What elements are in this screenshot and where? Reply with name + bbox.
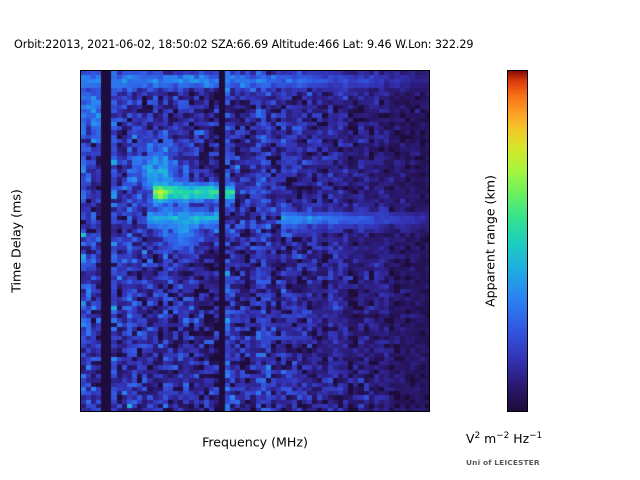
x-axis-tick — [324, 411, 325, 412]
x-axis-minor-tick — [312, 411, 313, 412]
y-axis-minor-tick — [80, 220, 81, 221]
x-axis-minor-tick — [107, 411, 108, 412]
figure-canvas: Orbit:22013, 2021-06-02, 18:50:02 SZA:66… — [0, 0, 640, 480]
x-axis-minor-tick — [237, 411, 238, 412]
y-axis-minor-tick — [80, 169, 81, 170]
y-axis-minor-tick — [80, 197, 81, 198]
y-axis-label: Time Delay (ms) — [9, 189, 24, 293]
y-axis-minor-tick — [80, 248, 81, 249]
secondary-y-axis-tick — [429, 130, 430, 131]
y-axis-minor-tick — [80, 346, 81, 347]
x-axis-minor-tick — [213, 411, 214, 412]
y-axis-minor-tick — [80, 131, 81, 132]
y-axis-minor-tick — [80, 80, 81, 81]
x-axis-minor-tick — [306, 411, 307, 412]
x-axis-tick — [386, 411, 387, 412]
x-axis-minor-tick — [275, 411, 276, 412]
x-axis-minor-tick — [424, 411, 425, 412]
y-axis-minor-tick — [80, 406, 81, 407]
colorbar-units-label: V2 m−2 Hz−1 — [466, 431, 542, 446]
y-axis-minor-tick — [80, 145, 81, 146]
y-axis-minor-tick — [80, 369, 81, 370]
x-axis-minor-tick — [82, 411, 83, 412]
y-axis-minor-tick — [80, 243, 81, 244]
y-axis-tick — [80, 257, 81, 258]
x-axis-minor-tick — [101, 411, 102, 412]
y-axis-minor-tick — [80, 122, 81, 123]
x-axis-minor-tick — [337, 411, 338, 412]
x-axis-minor-tick — [250, 411, 251, 412]
y-axis-minor-tick — [80, 215, 81, 216]
secondary-y-axis-tick — [429, 193, 430, 194]
y-axis-minor-tick — [80, 308, 81, 309]
y-axis-minor-tick — [80, 276, 81, 277]
y-axis-minor-tick — [80, 99, 81, 100]
x-axis-minor-tick — [144, 411, 145, 412]
x-axis-minor-tick — [219, 411, 220, 412]
y-axis-minor-tick — [80, 401, 81, 402]
x-axis-tick — [262, 411, 263, 412]
page-title: Orbit:22013, 2021-06-02, 18:50:02 SZA:66… — [14, 38, 473, 51]
x-axis-minor-tick — [194, 411, 195, 412]
x-axis-minor-tick — [231, 411, 232, 412]
x-axis-tick — [138, 411, 139, 412]
x-axis-minor-tick — [393, 411, 394, 412]
y-axis-tick — [80, 397, 81, 398]
y-axis-minor-tick — [80, 94, 81, 95]
y-axis-tick — [80, 211, 81, 212]
x-axis-minor-tick — [281, 411, 282, 412]
y-axis-minor-tick — [80, 104, 81, 105]
secondary-y-axis-tick — [429, 381, 430, 382]
secondary-y-axis-tick — [429, 255, 430, 256]
x-axis-minor-tick — [206, 411, 207, 412]
x-axis-minor-tick — [225, 411, 226, 412]
y-axis-minor-tick — [80, 113, 81, 114]
x-axis-minor-tick — [355, 411, 356, 412]
x-axis-minor-tick — [157, 411, 158, 412]
y-axis-minor-tick — [80, 280, 81, 281]
x-axis-minor-tick — [405, 411, 406, 412]
y-axis-minor-tick — [80, 392, 81, 393]
y-axis-minor-tick — [80, 155, 81, 156]
y-axis-minor-tick — [80, 387, 81, 388]
colorbar-tick — [527, 328, 528, 329]
y-axis-tick — [80, 118, 81, 119]
y-axis-minor-tick — [80, 285, 81, 286]
x-axis-minor-tick — [411, 411, 412, 412]
y-axis-minor-tick — [80, 234, 81, 235]
y-axis-tick — [80, 71, 81, 72]
y-axis-minor-tick — [80, 262, 81, 263]
y-axis-minor-tick — [80, 294, 81, 295]
y-axis-minor-tick — [80, 411, 81, 412]
y-axis-minor-tick — [80, 159, 81, 160]
x-axis-minor-tick — [361, 411, 362, 412]
y-axis-minor-tick — [80, 383, 81, 384]
x-axis-minor-tick — [119, 411, 120, 412]
x-axis-minor-tick — [380, 411, 381, 412]
y-axis-minor-tick — [80, 187, 81, 188]
x-axis-minor-tick — [417, 411, 418, 412]
ionogram-axes[interactable]: 0.01.02.03.04.05.06.07.02004006008001000… — [80, 70, 430, 412]
y-axis-minor-tick — [80, 318, 81, 319]
y-axis-minor-tick — [80, 373, 81, 374]
x-axis-tick — [200, 411, 201, 412]
y-axis-minor-tick — [80, 336, 81, 337]
y-axis-tick — [80, 304, 81, 305]
y-axis-minor-tick — [80, 341, 81, 342]
y-axis-minor-tick — [80, 239, 81, 240]
y-axis-minor-tick — [80, 378, 81, 379]
y-axis-minor-tick — [80, 290, 81, 291]
x-axis-minor-tick — [299, 411, 300, 412]
x-axis-minor-tick — [163, 411, 164, 412]
y-axis-minor-tick — [80, 229, 81, 230]
y-axis-minor-tick — [80, 206, 81, 207]
y-axis-minor-tick — [80, 327, 81, 328]
x-axis-minor-tick — [268, 411, 269, 412]
colorbar-tick — [527, 71, 528, 72]
y-axis-minor-tick — [80, 271, 81, 272]
x-axis-minor-tick — [188, 411, 189, 412]
y-axis-minor-tick — [80, 178, 81, 179]
x-axis-minor-tick — [256, 411, 257, 412]
y-axis-tick — [80, 164, 81, 165]
institution-watermark: Uni of LEICESTER — [466, 458, 540, 467]
x-axis-minor-tick — [399, 411, 400, 412]
y-axis-minor-tick — [80, 192, 81, 193]
x-axis-minor-tick — [88, 411, 89, 412]
x-axis-minor-tick — [374, 411, 375, 412]
colorbar[interactable]: 10−910−1110−1310−1510−17 — [507, 70, 528, 412]
ionogram-heatmap — [81, 71, 430, 412]
secondary-y-axis-tick — [429, 318, 430, 319]
y-axis-minor-tick — [80, 150, 81, 151]
y-axis-minor-tick — [80, 127, 81, 128]
y-axis-minor-tick — [80, 173, 81, 174]
x-axis-minor-tick — [293, 411, 294, 412]
y-axis-minor-tick — [80, 359, 81, 360]
x-axis-minor-tick — [95, 411, 96, 412]
y-axis-minor-tick — [80, 332, 81, 333]
y-axis-minor-tick — [80, 136, 81, 137]
y-axis-minor-tick — [80, 108, 81, 109]
x-axis-minor-tick — [151, 411, 152, 412]
y-axis-minor-tick — [80, 90, 81, 91]
y-axis-minor-tick — [80, 364, 81, 365]
y-axis-minor-tick — [80, 299, 81, 300]
x-axis-minor-tick — [126, 411, 127, 412]
y-axis-minor-tick — [80, 76, 81, 77]
secondary-y-axis-label: Apparent range (km) — [483, 175, 498, 307]
x-axis-minor-tick — [349, 411, 350, 412]
colorbar-tick — [527, 242, 528, 243]
y-axis-minor-tick — [80, 266, 81, 267]
y-axis-minor-tick — [80, 252, 81, 253]
x-axis-minor-tick — [244, 411, 245, 412]
y-axis-minor-tick — [80, 201, 81, 202]
x-axis-minor-tick — [330, 411, 331, 412]
x-axis-minor-tick — [132, 411, 133, 412]
colorbar-gradient — [508, 71, 527, 411]
x-axis-minor-tick — [113, 411, 114, 412]
x-axis-minor-tick — [182, 411, 183, 412]
y-axis-minor-tick — [80, 85, 81, 86]
y-axis-minor-tick — [80, 225, 81, 226]
x-axis-minor-tick — [169, 411, 170, 412]
x-axis-minor-tick — [343, 411, 344, 412]
x-axis-minor-tick — [318, 411, 319, 412]
y-axis-minor-tick — [80, 313, 81, 314]
y-axis-minor-tick — [80, 183, 81, 184]
x-axis-minor-tick — [287, 411, 288, 412]
y-axis-minor-tick — [80, 141, 81, 142]
x-axis-minor-tick — [368, 411, 369, 412]
y-axis-minor-tick — [80, 355, 81, 356]
x-axis-label: Frequency (MHz) — [202, 435, 308, 450]
x-axis-minor-tick — [175, 411, 176, 412]
y-axis-tick — [80, 350, 81, 351]
colorbar-tick — [527, 157, 528, 158]
y-axis-minor-tick — [80, 322, 81, 323]
